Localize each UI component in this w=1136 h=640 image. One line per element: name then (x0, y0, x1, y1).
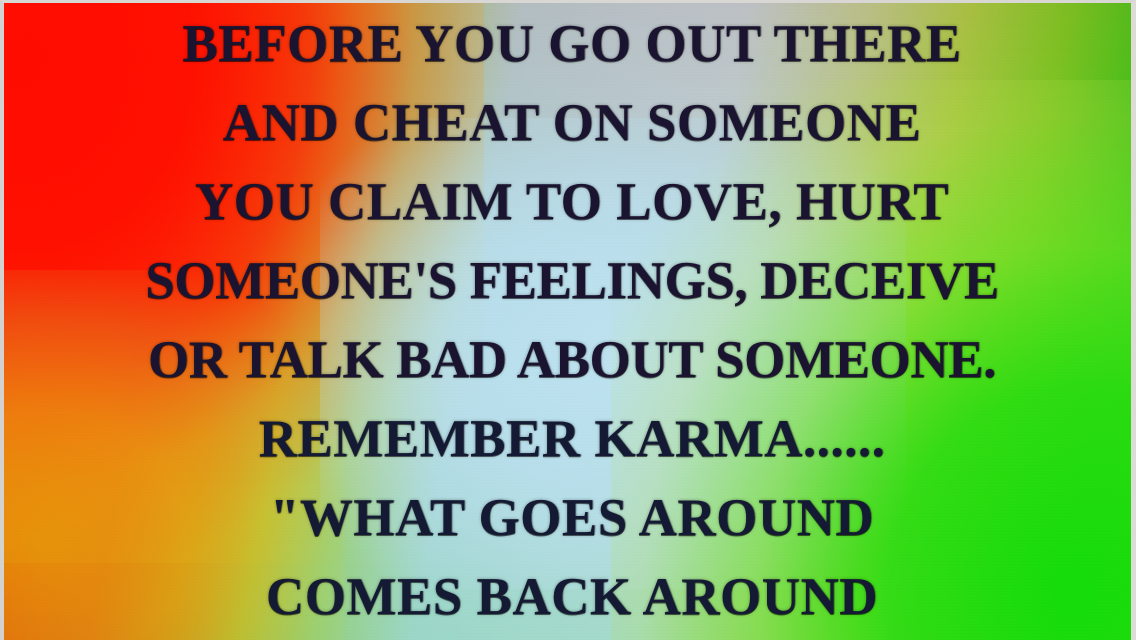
quote-line-1: BEFORE YOU GO OUT THERE (4, 5, 1136, 84)
image-frame: BEFORE YOU GO OUT THERE AND CHEAT ON SOM… (0, 0, 1136, 640)
quote-line-2: AND CHEAT ON SOMEONE (4, 84, 1136, 163)
image-canvas: BEFORE YOU GO OUT THERE AND CHEAT ON SOM… (0, 0, 1136, 640)
quote-line-5: OR TALK BAD ABOUT SOMEONE. (4, 321, 1136, 400)
quote-line-6: REMEMBER KARMA...... (4, 400, 1136, 479)
quote-line-4: SOMEONE'S FEELINGS, DECEIVE (4, 242, 1136, 321)
quote-line-8: COMES BACK AROUND (4, 558, 1136, 637)
quote-text-block: BEFORE YOU GO OUT THERE AND CHEAT ON SOM… (4, 3, 1136, 640)
quote-line-3: YOU CLAIM TO LOVE, HURT (4, 163, 1136, 242)
quote-line-7: "WHAT GOES AROUND (4, 479, 1136, 558)
